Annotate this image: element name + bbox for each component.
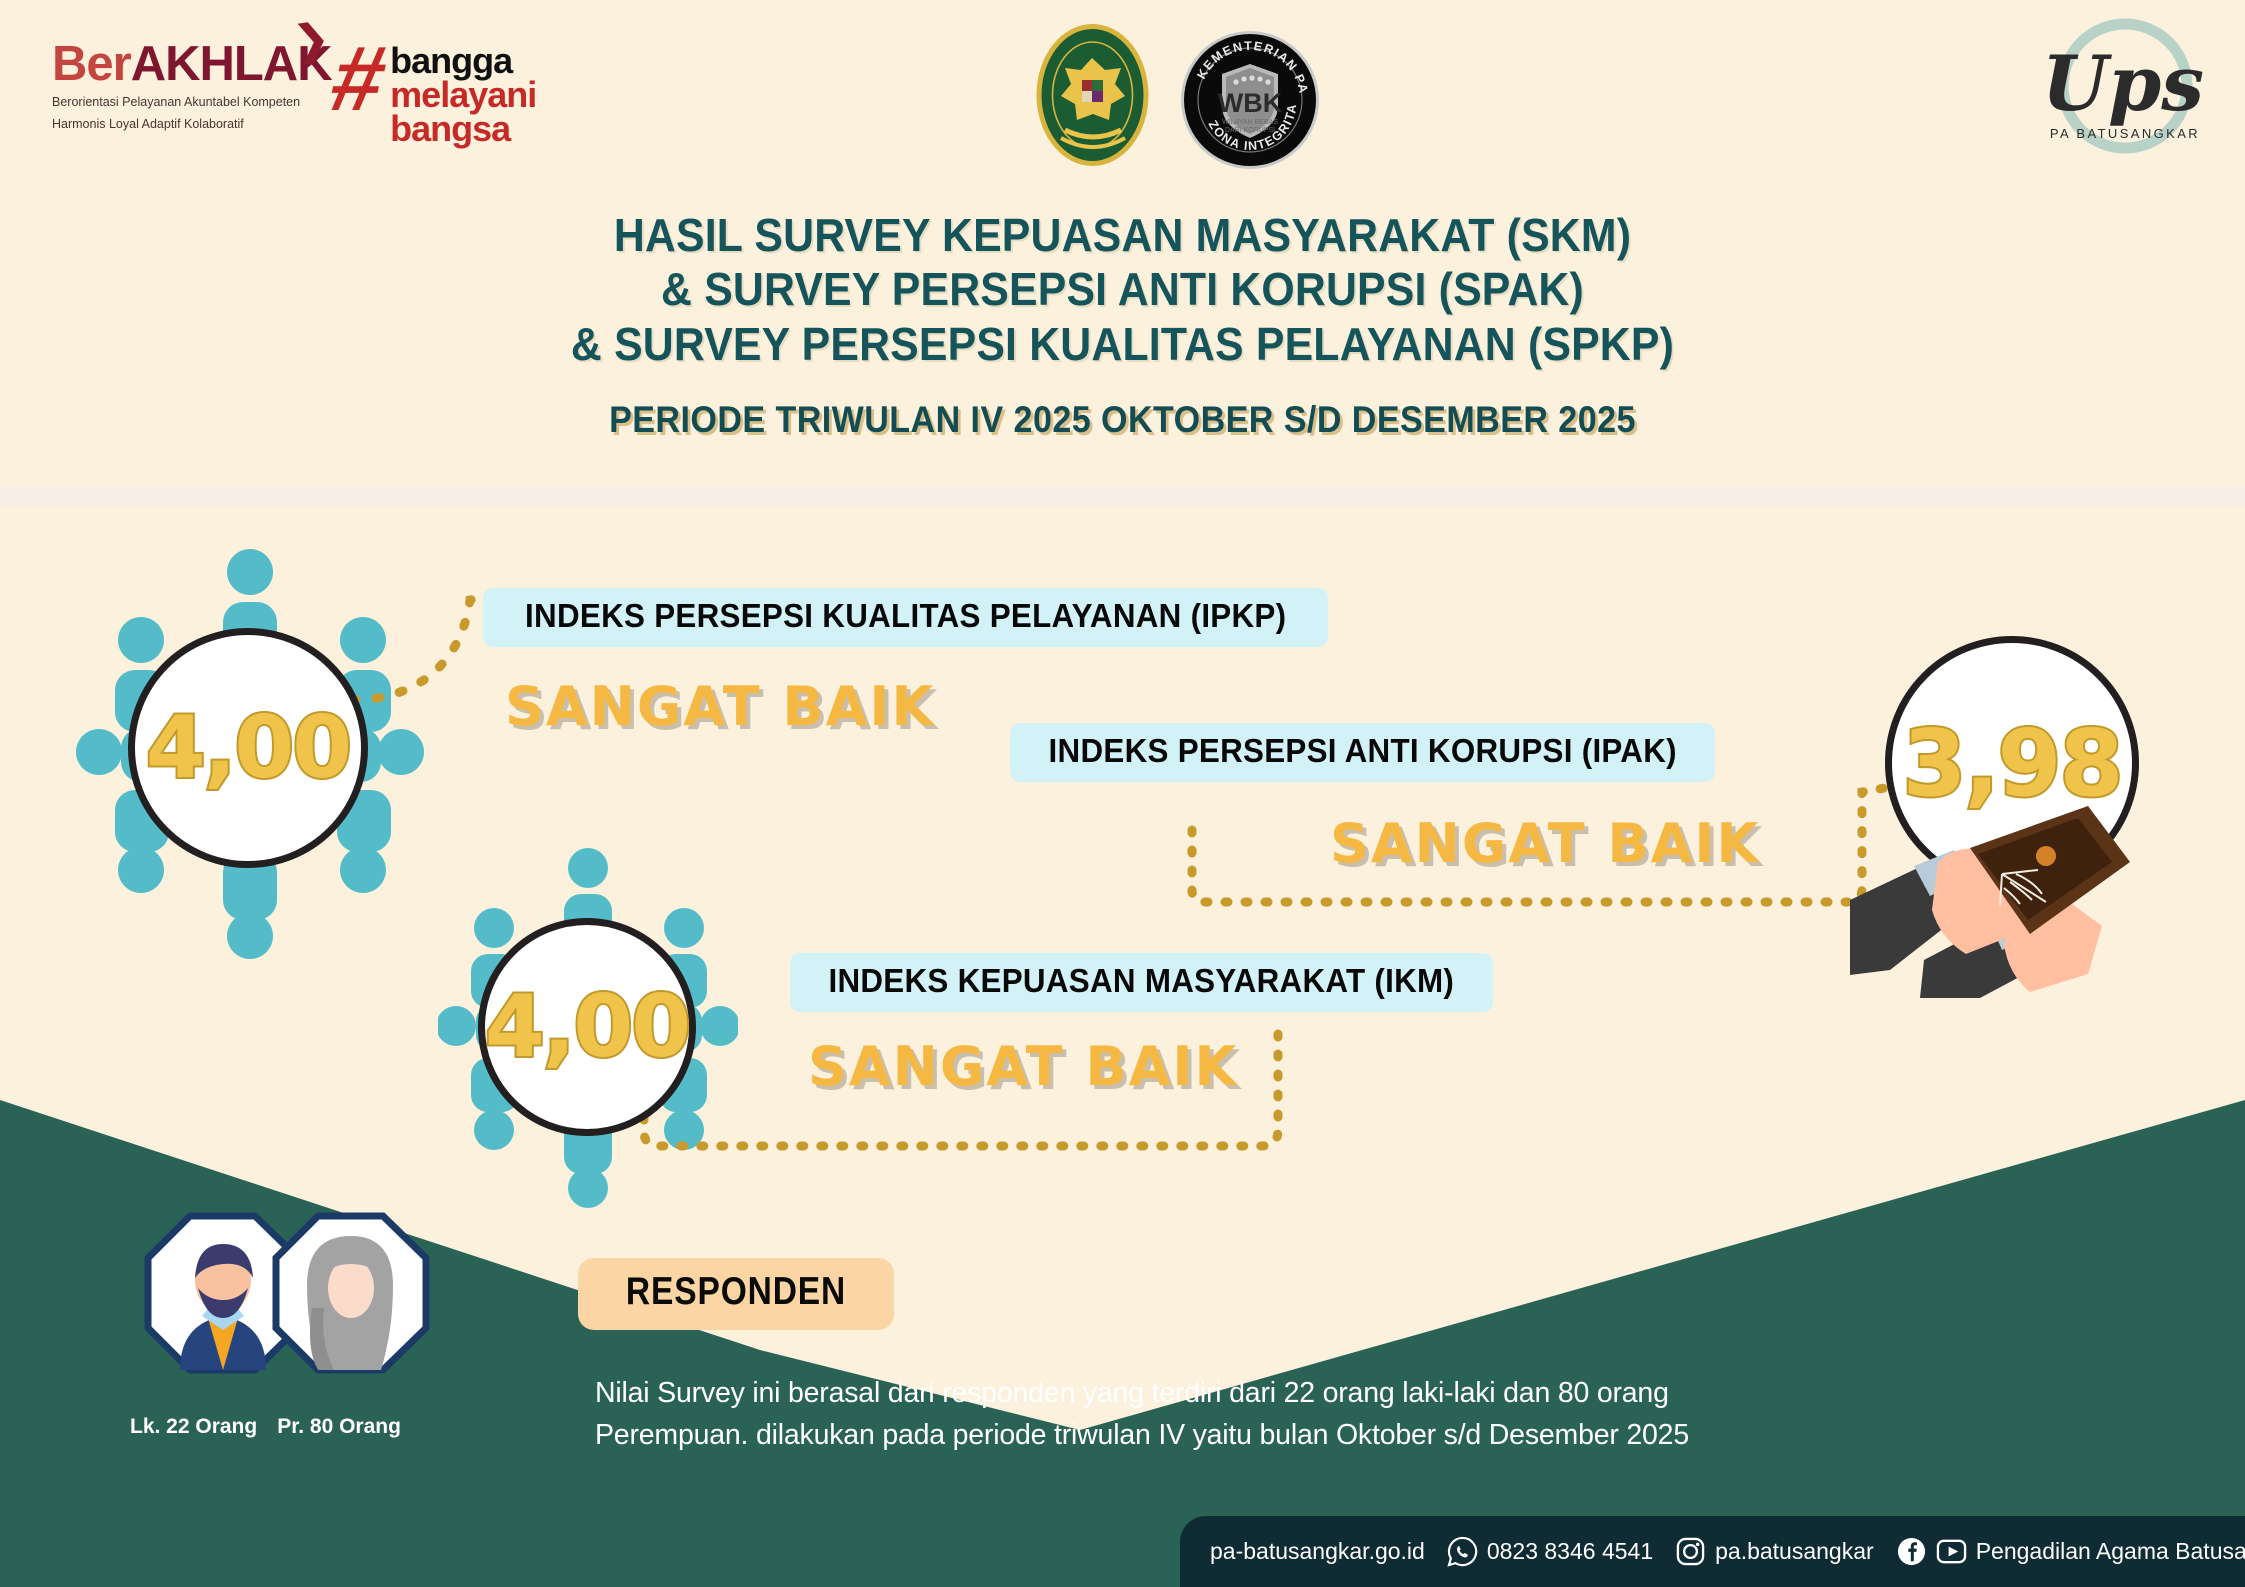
periode-subtitle: PERIODE TRIWULAN IV 2025 OKTOBER S/D DES…: [90, 399, 2155, 441]
respondent-avatars: [130, 1180, 490, 1430]
avatar-female: [276, 1216, 426, 1370]
bangga-line3: bangsa: [390, 112, 536, 146]
whatsapp-icon: [1447, 1536, 1478, 1567]
facebook-icon: [1896, 1536, 1927, 1567]
metric-label-ikm: INDEKS KEPUASAN MASYARAKAT (IKM): [790, 953, 1493, 1012]
metric-rating-ipkp: SANGAT BAIK: [505, 675, 935, 738]
respondent-description: Nilai Survey ini berasal dari responden …: [595, 1372, 2085, 1456]
chevron-right-icon: ❯: [293, 18, 331, 62]
berakhlak-subtitle-line2: Harmonis Loyal Adaptif Kolaboratif: [52, 116, 310, 133]
respondent-description-line1: Nilai Survey ini berasal dari responden …: [595, 1372, 2085, 1414]
berakhlak-logo: BerAKHLAK❯ Berorientasi Pelayanan Akunta…: [52, 40, 312, 133]
metric-circle-ipkp: 4,00: [128, 628, 368, 868]
metric-label-ipak: INDEKS PERSEPSI ANTI KORUPSI (IPAK): [1010, 723, 1715, 782]
metric-label-text-ipkp: INDEKS PERSEPSI KUALITAS PELAYANAN (IPKP…: [525, 597, 1286, 635]
pengadilan-agama-seal-icon: [1035, 22, 1150, 168]
infographic-canvas: BerAKHLAK❯ Berorientasi Pelayanan Akunta…: [0, 0, 2245, 1587]
metric-value-ikm: 4,00: [485, 977, 689, 1077]
bangga-line2: melayani: [390, 78, 536, 112]
metric-circle-ikm: 4,00: [478, 918, 696, 1136]
metric-rating-ikm: SANGAT BAIK: [808, 1035, 1238, 1098]
instagram-icon: [1675, 1536, 1706, 1567]
svg-text:Ups: Ups: [2042, 39, 2204, 128]
hash-icon: #: [324, 38, 393, 121]
metric-label-ipkp: INDEKS PERSEPSI KUALITAS PELAYANAN (IPKP…: [483, 588, 1328, 647]
metric-rating-ipak: SANGAT BAIK: [1330, 812, 1760, 875]
title-line-2: & SURVEY PERSEPSI ANTI KORUPSI (SPAK): [79, 262, 2167, 316]
male-count-caption: Lk. 22 Orang: [130, 1415, 257, 1439]
respondent-captions: Lk. 22 Orang Pr. 80 Orang: [130, 1415, 490, 1439]
berakhlak-wordmark: BerAKHLAK❯: [52, 40, 312, 89]
empty-wallet-hands-illustration: [1850, 770, 2190, 1000]
bangga-melayani-bangsa-logo: # bangga melayani bangsa: [333, 38, 583, 147]
berakhlak-subtitle-line1: Berorientasi Pelayanan Akuntabel Kompete…: [52, 94, 310, 111]
metric-value-ipkp: 4,00: [146, 698, 350, 798]
svg-text:WILAYAH BEBAS: WILAYAH BEBAS: [1222, 119, 1278, 126]
wbk-zona-integritas-seal-icon: WBK WILAYAH BEBAS DARI KORUPSI KEMENTERI…: [1180, 30, 1320, 170]
title-block: HASIL SURVEY KEPUASAN MASYARAKAT (SKM) &…: [0, 208, 2245, 441]
metric-label-text-ikm: INDEKS KEPUASAN MASYARAKAT (IKM): [828, 962, 1454, 1000]
title-line-1: HASIL SURVEY KEPUASAN MASYARAKAT (SKM): [79, 208, 2167, 262]
title-line-3: & SURVEY PERSEPSI KUALITAS PELAYANAN (SP…: [79, 317, 2167, 371]
respondent-description-line2: Perempuan. dilakukan pada periode triwul…: [595, 1414, 2085, 1456]
bangga-line1: bangga: [390, 44, 536, 78]
youtube-icon: [1936, 1536, 1967, 1567]
footer-instagram[interactable]: pa.batusangkar: [1675, 1536, 1874, 1567]
svg-text:WBK: WBK: [1218, 88, 1283, 118]
footer-instagram-handle: pa.batusangkar: [1715, 1538, 1874, 1565]
responden-badge-text: RESPONDEN: [626, 1270, 846, 1314]
responden-badge: RESPONDEN: [578, 1258, 894, 1330]
footer-whatsapp-number: 0823 8346 4541: [1487, 1538, 1653, 1565]
svg-text:DARI KORUPSI: DARI KORUPSI: [1225, 127, 1275, 134]
footer-whatsapp[interactable]: 0823 8346 4541: [1447, 1536, 1653, 1567]
berakhlak-word-ber: Ber: [52, 37, 131, 91]
header-divider-band: [0, 487, 2245, 507]
bangga-text-lines: bangga melayani bangsa: [390, 38, 536, 147]
svg-text:PA BATUSANGKAR: PA BATUSANGKAR: [2050, 126, 2200, 141]
ups-pa-batusangkar-logo: Ups PA BATUSANGKAR: [2035, 12, 2215, 172]
footer-contact-row: pa-batusangkar.go.id 0823 8346 4541 pa.b…: [1180, 1516, 2245, 1587]
footer-social-accounts[interactable]: Pengadilan Agama Batusangkar: [1896, 1536, 2245, 1567]
footer-website[interactable]: pa-batusangkar.go.id: [1210, 1538, 1425, 1565]
footer-social-name: Pengadilan Agama Batusangkar: [1976, 1538, 2245, 1565]
female-count-caption: Pr. 80 Orang: [277, 1415, 401, 1439]
metric-label-text-ipak: INDEKS PERSEPSI ANTI KORUPSI (IPAK): [1049, 732, 1677, 770]
